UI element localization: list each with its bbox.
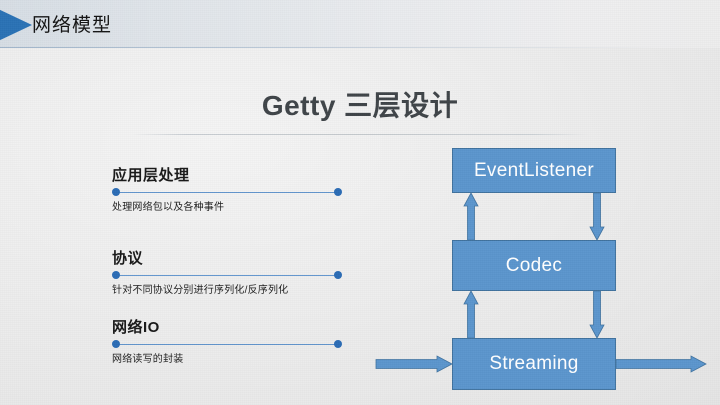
diagram-node-eventlistener[interactable]: EventListener xyxy=(452,148,616,193)
layered-architecture-diagram: EventListener Codec Streaming xyxy=(0,0,720,405)
diagram-node-streaming[interactable]: Streaming xyxy=(452,338,616,390)
slide-canvas: 网络模型 Getty 三层设计 应用层处理 处理网络包以及各种事件 协议 针对不… xyxy=(0,0,720,405)
diagram-node-codec[interactable]: Codec xyxy=(452,240,616,291)
